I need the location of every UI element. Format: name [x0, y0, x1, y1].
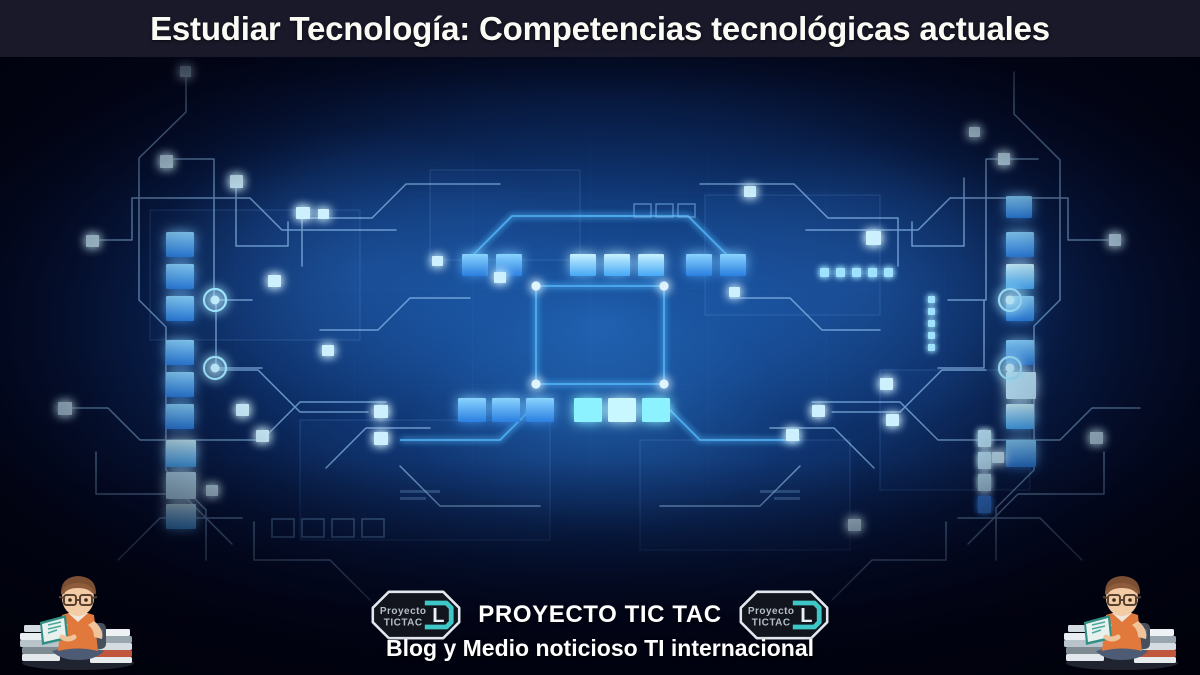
logo-word-bottom: TICTAC — [751, 617, 790, 628]
logo-word-bottom: TICTAC — [384, 617, 423, 628]
page-title: Estudiar Tecnología: Competencias tecnol… — [150, 10, 1050, 48]
logo-word-top: Proyecto — [380, 606, 427, 617]
screenshot-root: Estudiar Tecnología: Competencias tecnol… — [0, 0, 1200, 675]
logo-letter: L — [433, 605, 445, 627]
footer-branding: L Proyecto TICTAC PROYECTO TIC TAC L Pro… — [0, 569, 1200, 675]
brand-name: PROYECTO TIC TAC — [478, 601, 721, 629]
logo-letter: L — [800, 605, 812, 627]
brand-tagline: Blog y Medio noticioso TI internacional — [0, 635, 1200, 662]
logo-word-top: Proyecto — [748, 606, 795, 617]
page-title-bar: Estudiar Tecnología: Competencias tecnol… — [0, 0, 1200, 57]
